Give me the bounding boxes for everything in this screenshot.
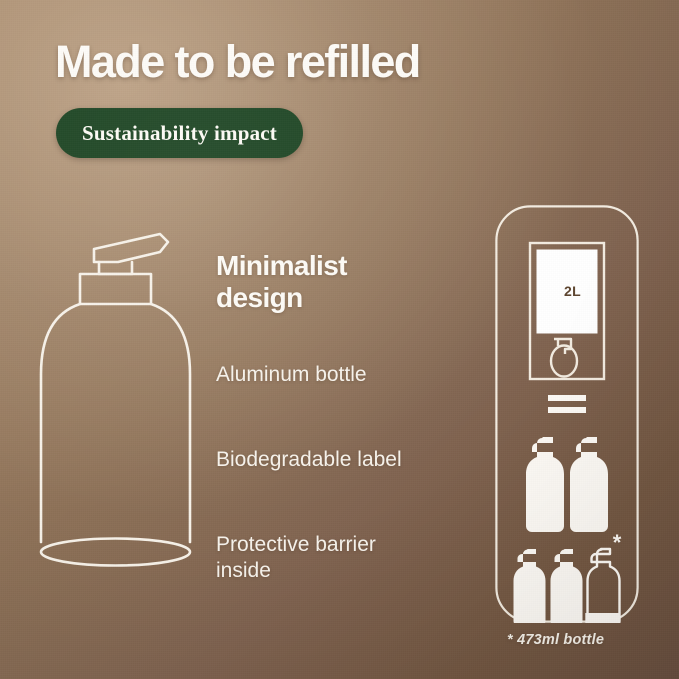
refill-equivalence-panel: * [495, 205, 639, 623]
bottle-outline-partial [585, 549, 619, 623]
refill-spout-cap-icon [551, 339, 577, 377]
bottle-filled [570, 437, 608, 532]
bottle-filled [514, 549, 546, 623]
equals-sign-icon [548, 395, 586, 413]
feature-item-aluminum-bottle: Aluminum bottle [216, 362, 431, 388]
page-title: Made to be refilled [55, 36, 420, 88]
feature-item-protective-barrier: Protective barrier inside [216, 532, 431, 583]
status-badge-label: Sustainability impact [82, 121, 277, 146]
refill-volume-label: 2L [564, 283, 581, 299]
bottle-filled [526, 437, 564, 532]
status-badge: Sustainability impact [56, 108, 303, 158]
refill-carton-group [530, 243, 604, 379]
feature-item-biodegradable-label: Biodegradable label [216, 447, 431, 473]
footnote-text: * 473ml bottle [507, 632, 604, 648]
asterisk-marker: * [613, 530, 622, 555]
refill-infographic-page: Made to be refilled Sustainability impac… [0, 0, 679, 679]
bottle-row-bottom: * [514, 530, 622, 623]
bottle-filled [551, 549, 583, 623]
feature-heading: Minimalist design [216, 250, 436, 315]
bottle-row-top [526, 437, 608, 532]
large-pump-bottle-outline [32, 222, 212, 592]
